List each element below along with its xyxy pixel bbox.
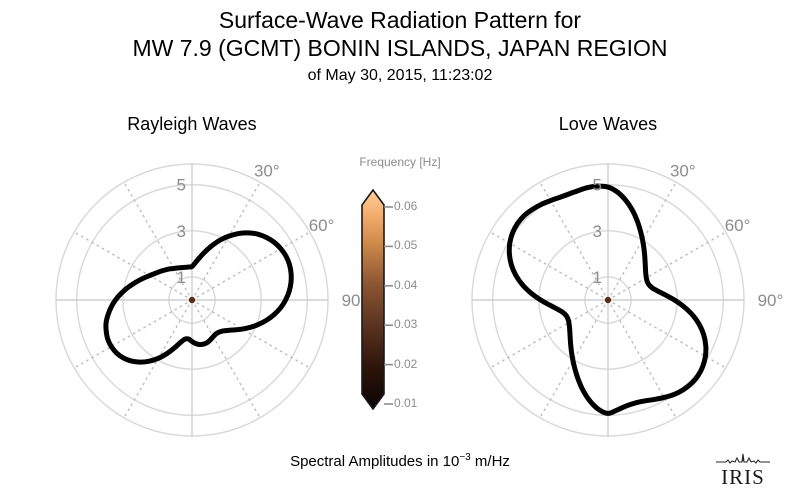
colorbar-tick-label: 0.04 (394, 278, 440, 292)
colorbar-label: Frequency [Hz] (320, 155, 480, 169)
radial-tick-label: 3 (177, 222, 186, 241)
footer-caption-exponent: −3 (459, 452, 470, 463)
colorbar-gradient (362, 190, 384, 409)
colorbar-ticks (384, 207, 393, 404)
colorbar-tick-label: 0.03 (394, 317, 440, 331)
footer-caption-prefix: Spectral Amplitudes in 10 (290, 453, 459, 470)
footer-caption-suffix: m/Hz (471, 453, 510, 470)
angle-tick-label: 30° (254, 161, 280, 180)
axis-labels-love: 13530°60°90° (593, 161, 784, 310)
center-dot-rayleigh (189, 297, 195, 303)
colorbar-tick-label: 0.05 (394, 238, 440, 252)
radial-tick-label: 5 (177, 176, 186, 195)
center-dot-love (605, 297, 611, 303)
axis-labels-rayleigh: 13530°60°90° (177, 161, 368, 310)
radial-tick-label: 1 (177, 268, 186, 287)
radial-tick-label: 1 (593, 268, 602, 287)
radiation-curve-rayleigh (106, 233, 291, 362)
radial-tick-label: 3 (593, 222, 602, 241)
colorbar-tick-label: 0.01 (394, 396, 440, 410)
angle-tick-label: 90° (758, 291, 784, 310)
figure-canvas: Surface-Wave Radiation Pattern for MW 7.… (0, 0, 800, 496)
colorbar-tick-label: 0.06 (394, 199, 440, 213)
radial-tick-label: 5 (593, 176, 602, 195)
angle-tick-label: 60° (309, 216, 335, 235)
angle-tick-label: 60° (725, 216, 751, 235)
angle-tick-label: 30° (670, 161, 696, 180)
iris-wordmark: IRIS (706, 466, 780, 488)
iris-logo: IRIS (706, 452, 780, 492)
colorbar-tick-label: 0.02 (394, 357, 440, 371)
footer-caption: Spectral Amplitudes in 10−3 m/Hz (0, 452, 800, 470)
